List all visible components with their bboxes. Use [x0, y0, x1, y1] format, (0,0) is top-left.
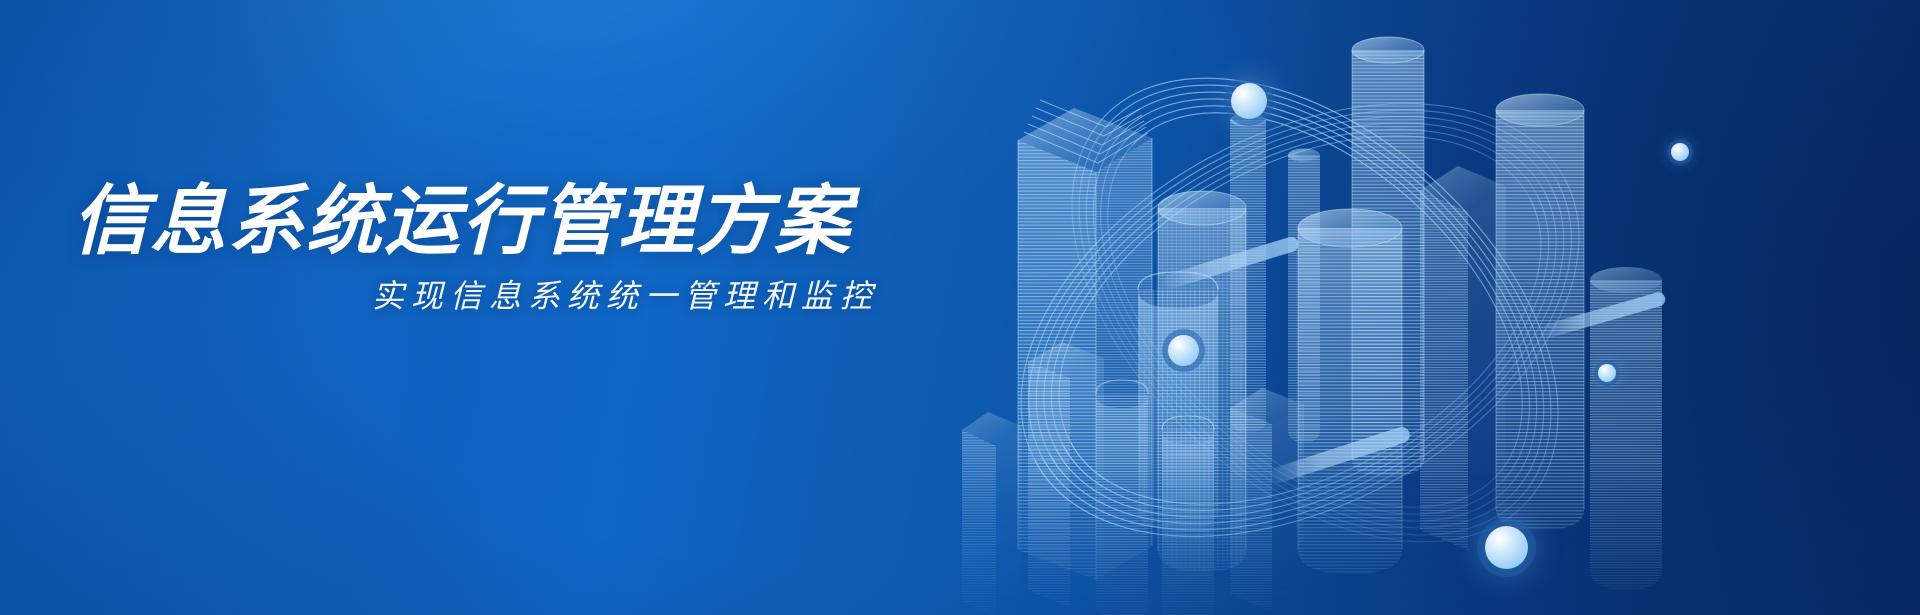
hero-banner: 信息系统运行管理方案 实现信息系统统一管理和监控: [0, 0, 1920, 615]
glow-dot-bottom: [1485, 526, 1528, 569]
glow-dot-core: [1598, 364, 1616, 382]
banner-text-block: 信息系统运行管理方案 实现信息系统统一管理和监控: [0, 0, 960, 615]
glow-dot-core: [1485, 526, 1528, 569]
glow-dot-right-low: [1598, 364, 1616, 382]
tower-front-block-4: [1230, 388, 1304, 612]
glow-dot-core: [1671, 143, 1689, 161]
glow-dot-right-top: [1671, 143, 1689, 161]
tower-back-slab-group: [1420, 166, 1506, 550]
page-title: 信息系统运行管理方案: [72, 182, 852, 263]
glow-dot-core: [1231, 83, 1267, 119]
tower-front-block-1: [1028, 342, 1104, 608]
glow-dot-core: [1168, 335, 1199, 366]
wireframe-city-illustration: [900, 0, 1920, 615]
tower-midright-cylinder: [1298, 209, 1402, 574]
tower-far-left-stub: [962, 412, 1022, 615]
glow-dot-mid-left: [1168, 335, 1199, 366]
wireframe-city-svg: [900, 0, 1920, 615]
page-subtitle: 实现信息系统统一管理和监控: [372, 276, 879, 316]
glow-dot-top-left: [1231, 83, 1267, 119]
tower-right-edge: [1496, 94, 1584, 530]
tower-front-block-2: [1096, 380, 1148, 615]
tower-rod-1: [1230, 113, 1266, 432]
